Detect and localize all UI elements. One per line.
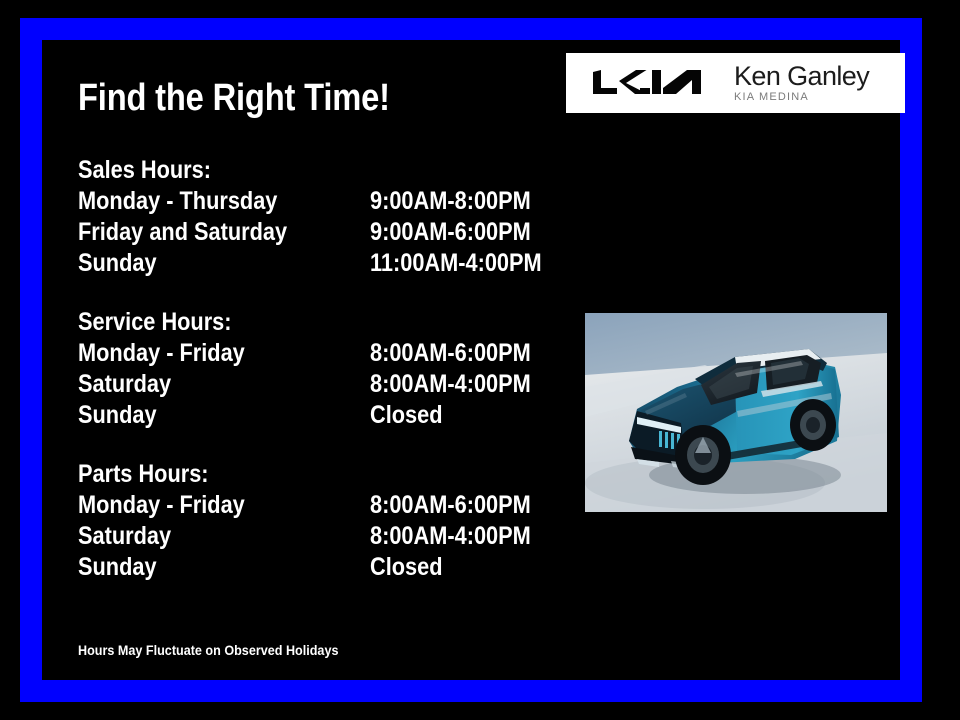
hours-row-time: 11:00AM-4:00PM — [370, 248, 542, 279]
hours-row: Friday and Saturday9:00AM-6:00PM — [78, 217, 548, 248]
hours-section-title: Parts Hours: — [78, 459, 487, 490]
hours-row: Saturday8:00AM-4:00PM — [78, 521, 548, 552]
hours-section-title: Sales Hours: — [78, 155, 487, 186]
hours-list: Sales Hours:Monday - Thursday9:00AM-8:00… — [78, 155, 548, 583]
hours-row-time: Closed — [370, 552, 443, 583]
disclaimer-text: Hours May Fluctuate on Observed Holidays — [78, 641, 338, 659]
hours-row-days: Sunday — [78, 248, 332, 279]
vehicle-image — [585, 313, 887, 512]
hours-row: Sunday11:00AM-4:00PM — [78, 248, 548, 279]
hours-row-days: Sunday — [78, 400, 332, 431]
hours-row: Saturday8:00AM-4:00PM — [78, 369, 548, 400]
page-title: Find the Right Time! — [78, 76, 390, 120]
dealer-logo: Ken Ganley KIA MEDINA — [566, 53, 905, 113]
hours-row-time: 9:00AM-6:00PM — [370, 217, 531, 248]
hours-row: SundayClosed — [78, 400, 548, 431]
hours-row-time: 8:00AM-4:00PM — [370, 369, 531, 400]
hours-section: Service Hours:Monday - Friday8:00AM-6:00… — [78, 307, 548, 431]
kia-logo-mark — [588, 68, 706, 98]
dealer-location: KIA MEDINA — [734, 90, 869, 104]
hours-section: Parts Hours:Monday - Friday8:00AM-6:00PM… — [78, 459, 548, 583]
hours-row-time: 9:00AM-8:00PM — [370, 186, 531, 217]
hours-row-days: Monday - Friday — [78, 338, 332, 369]
hours-row-time: 8:00AM-6:00PM — [370, 490, 531, 521]
slide-root: Find the Right Time! Sales Hours:Monday … — [0, 0, 960, 720]
hours-section: Sales Hours:Monday - Thursday9:00AM-8:00… — [78, 155, 548, 279]
dealer-name: Ken Ganley — [734, 62, 869, 90]
hours-row-days: Monday - Friday — [78, 490, 332, 521]
hours-row-days: Saturday — [78, 521, 332, 552]
hours-row-days: Sunday — [78, 552, 332, 583]
hours-row: Monday - Friday8:00AM-6:00PM — [78, 490, 548, 521]
hours-row-time: Closed — [370, 400, 443, 431]
hours-row-days: Monday - Thursday — [78, 186, 332, 217]
hours-row-time: 8:00AM-4:00PM — [370, 521, 531, 552]
hours-row-days: Saturday — [78, 369, 332, 400]
hours-section-title: Service Hours: — [78, 307, 487, 338]
hours-row: Monday - Thursday9:00AM-8:00PM — [78, 186, 548, 217]
hours-row-days: Friday and Saturday — [78, 217, 332, 248]
hours-row: SundayClosed — [78, 552, 548, 583]
hours-row: Monday - Friday8:00AM-6:00PM — [78, 338, 548, 369]
hours-row-time: 8:00AM-6:00PM — [370, 338, 531, 369]
dealer-name-block: Ken Ganley KIA MEDINA — [734, 62, 869, 104]
